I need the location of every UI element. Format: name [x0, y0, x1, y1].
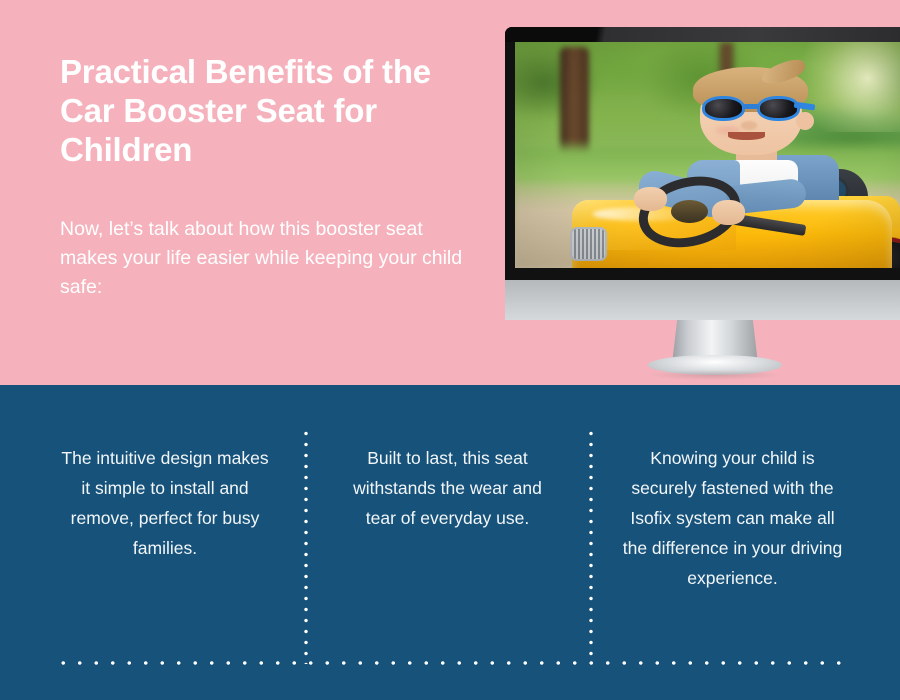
bottom-blue-panel: The intuitive design makes it simple to …: [0, 385, 900, 700]
photo-vignette: [515, 42, 900, 268]
dotted-divider-2: [589, 428, 593, 664]
dotted-divider-bottom: [55, 661, 850, 665]
monitor-stand-shadow: [650, 370, 780, 380]
monitor-screen: [515, 42, 900, 268]
monitor-bezel-gloss: [505, 27, 900, 42]
benefit-column-1: The intuitive design makes it simple to …: [60, 443, 270, 563]
page-title: Practical Benefits of the Car Booster Se…: [60, 52, 480, 169]
intro-paragraph: Now, let’s talk about how this booster s…: [60, 215, 475, 302]
benefits-columns: The intuitive design makes it simple to …: [0, 385, 900, 700]
benefit-column-2: Built to last, this seat withstands the …: [345, 443, 550, 533]
desktop-monitor: [505, 27, 900, 280]
child-in-toy-car-photo: [515, 42, 900, 268]
dotted-divider-1: [304, 428, 308, 664]
monitor-chin: [505, 280, 900, 320]
benefit-column-3: Knowing your child is securely fastened …: [620, 443, 845, 593]
top-pink-panel: Practical Benefits of the Car Booster Se…: [0, 0, 900, 385]
